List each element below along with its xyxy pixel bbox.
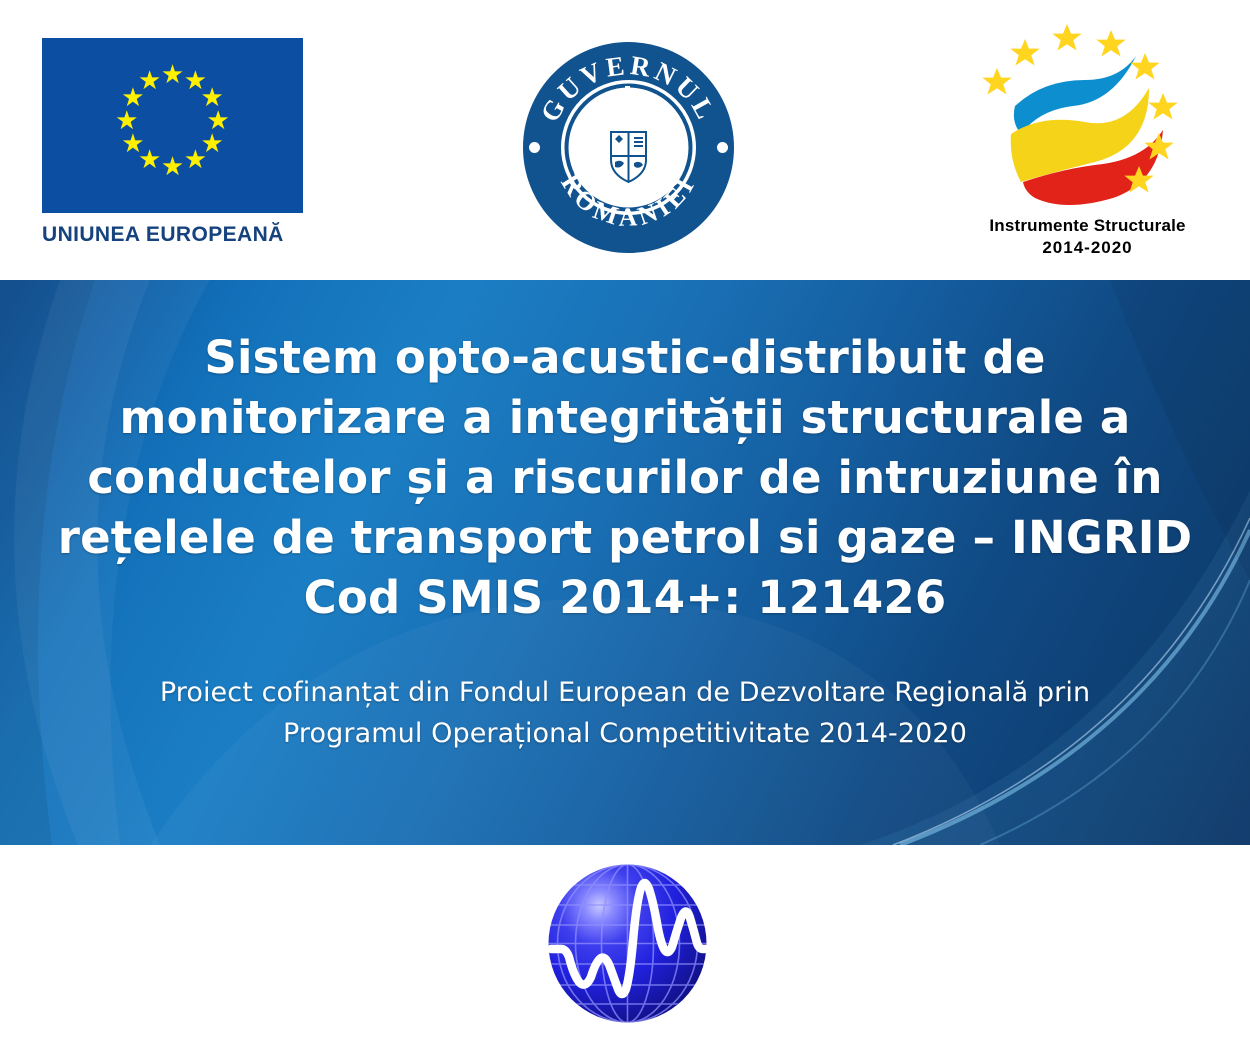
romanian-government-logo: GUVERNUL ROMÂNIEI <box>521 40 736 255</box>
footer-logo-strip <box>0 845 1250 1042</box>
banner-subtitle-line: Programul Operațional Competitivitate 20… <box>46 713 1204 754</box>
banner-title-line: Cod SMIS 2014+: 121426 <box>46 568 1204 628</box>
structural-instruments-caption-line1: Instrumente Structurale <box>955 216 1220 236</box>
eu-logo-caption: UNIUNEA EUROPEANĂ <box>42 223 312 247</box>
shield-glyph <box>611 132 646 182</box>
eu-flag-star: ★ <box>137 67 163 93</box>
eu-flag-star: ★ <box>182 146 208 172</box>
eu-flag-icon: ★ ★ ★ ★ ★ ★ ★ ★ ★ ★ ★ ★ <box>42 38 303 213</box>
banner-subtitle: Proiect cofinanțat din Fondul European d… <box>46 672 1204 754</box>
structural-instruments-caption-line2: 2014-2020 <box>955 238 1220 258</box>
banner-title-line: rețelele de transport petrol si gaze – I… <box>46 508 1204 568</box>
header-logo-strip: ★ ★ ★ ★ ★ ★ ★ ★ ★ ★ ★ ★ UNIUNEA EUROPEAN… <box>0 0 1250 280</box>
banner-subtitle-line: Proiect cofinanțat din Fondul European d… <box>46 672 1204 713</box>
banner-title-line: monitorizare a integrității structurale … <box>46 388 1204 448</box>
project-banner: Sistem opto-acustic-distribuit de monito… <box>0 280 1250 845</box>
structural-instruments-logo: Instrumente Structurale 2014-2020 <box>955 22 1220 258</box>
romanian-government-seal-icon: GUVERNUL ROMÂNIEI <box>521 40 736 255</box>
eu-logo: ★ ★ ★ ★ ★ ★ ★ ★ ★ ★ ★ ★ UNIUNEA EUROPEAN… <box>42 38 312 247</box>
eu-flag-star: ★ <box>160 153 186 179</box>
globe-waveform-icon <box>545 861 710 1026</box>
banner-title: Sistem opto-acustic-distribuit de monito… <box>46 328 1204 628</box>
banner-title-line: Sistem opto-acustic-distribuit de <box>46 328 1204 388</box>
banner-title-line: conductelor și a riscurilor de intruziun… <box>46 448 1204 508</box>
structural-instruments-icon <box>973 22 1203 218</box>
